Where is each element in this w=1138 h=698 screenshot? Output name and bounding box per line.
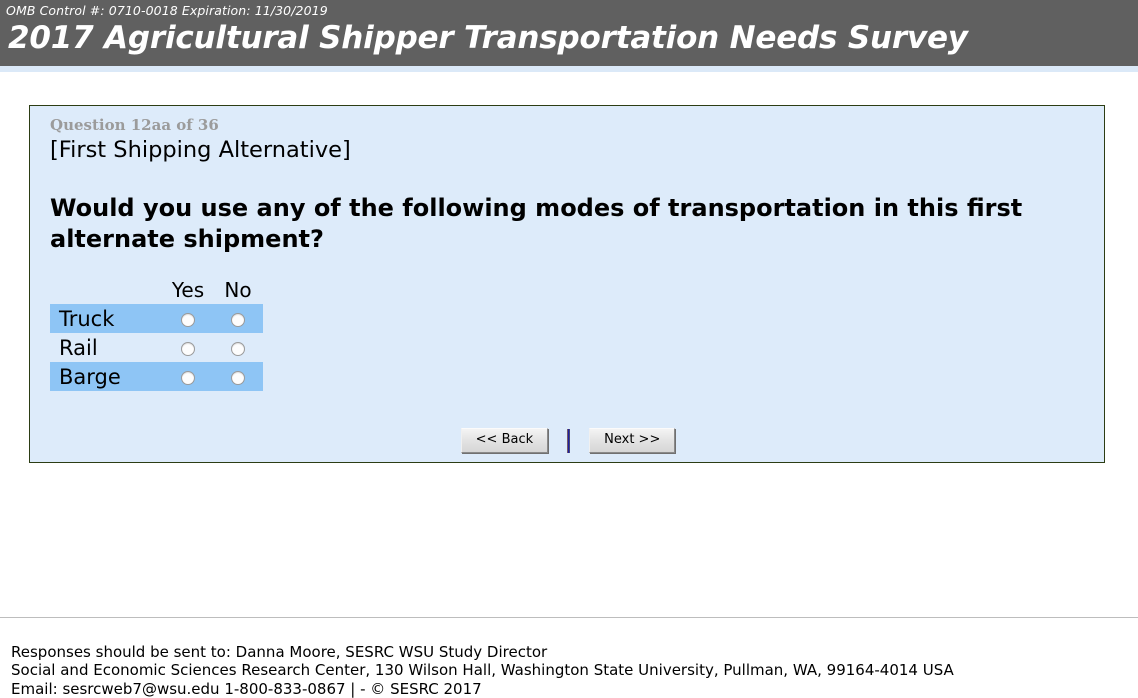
radio-cell-truck-no[interactable] — [213, 304, 263, 333]
row-label-barge: Barge — [50, 362, 163, 391]
radio-truck-no[interactable] — [231, 313, 245, 327]
footer-line-contact: Responses should be sent to: Danna Moore… — [11, 643, 954, 661]
content-area: Question 12aa of 36 [First Shipping Alte… — [0, 72, 1138, 544]
table-row: Rail — [50, 333, 263, 362]
matrix-body: Truck Rail — [50, 304, 263, 391]
radio-barge-yes[interactable] — [181, 371, 195, 385]
matrix-corner-cell — [50, 276, 163, 304]
question-text: Would you use any of the following modes… — [50, 193, 1090, 254]
matrix-header-yes: Yes — [163, 276, 213, 304]
question-counter: Question 12aa of 36 — [50, 116, 1104, 135]
page-header: OMB Control #: 0710-0018 Expiration: 11/… — [0, 0, 1138, 66]
radio-cell-barge-yes[interactable] — [163, 362, 213, 391]
matrix-header-no: No — [213, 276, 263, 304]
omb-control-line: OMB Control #: 0710-0018 Expiration: 11/… — [0, 0, 1138, 18]
table-row: Barge — [50, 362, 263, 391]
radio-truck-yes[interactable] — [181, 313, 195, 327]
button-separator — [567, 429, 570, 453]
matrix-header-row: Yes No — [50, 276, 263, 304]
transportation-mode-matrix: Yes No Truck Rail — [50, 276, 263, 391]
footer-divider — [0, 617, 1138, 618]
page-footer: Responses should be sent to: Danna Moore… — [11, 643, 954, 698]
radio-cell-rail-yes[interactable] — [163, 333, 213, 362]
footer-line-address: Social and Economic Sciences Research Ce… — [11, 661, 954, 679]
question-panel-inner: Question 12aa of 36 [First Shipping Alte… — [30, 106, 1104, 391]
navigation-bar: << Back Next >> — [30, 428, 1106, 453]
matrix-header: Yes No — [50, 276, 263, 304]
question-panel: Question 12aa of 36 [First Shipping Alte… — [29, 105, 1105, 463]
radio-barge-no[interactable] — [231, 371, 245, 385]
page-title: 2017 Agricultural Shipper Transportation… — [0, 18, 1138, 56]
radio-rail-yes[interactable] — [181, 342, 195, 356]
radio-cell-rail-no[interactable] — [213, 333, 263, 362]
radio-cell-truck-yes[interactable] — [163, 304, 213, 333]
footer-line-email: Email: sesrcweb7@wsu.edu 1-800-833-0867 … — [11, 680, 954, 698]
row-label-rail: Rail — [50, 333, 163, 362]
back-button[interactable]: << Back — [461, 428, 548, 453]
radio-rail-no[interactable] — [231, 342, 245, 356]
question-subtitle: [First Shipping Alternative] — [50, 136, 1104, 165]
table-row: Truck — [50, 304, 263, 333]
row-label-truck: Truck — [50, 304, 163, 333]
radio-cell-barge-no[interactable] — [213, 362, 263, 391]
next-button[interactable]: Next >> — [589, 428, 675, 453]
